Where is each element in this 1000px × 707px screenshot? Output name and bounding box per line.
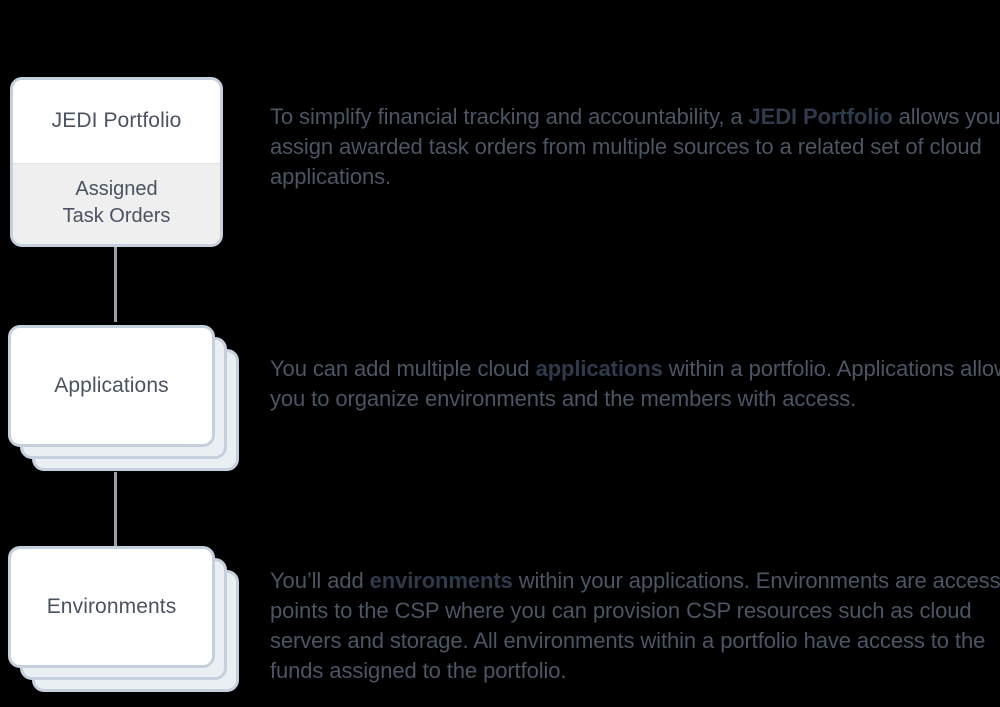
- card-title-applications: Applications: [11, 328, 212, 444]
- card-jedi-portfolio: JEDI Portfolio Assigned Task Orders: [10, 77, 223, 247]
- connector-applications-to-environments: [114, 472, 117, 546]
- description-emphasis: JEDI Portfolio: [749, 104, 893, 129]
- node-environments[interactable]: Environments: [8, 546, 240, 696]
- node-jedi-portfolio[interactable]: JEDI Portfolio Assigned Task Orders: [10, 77, 225, 247]
- description-text-lead: You can add multiple cloud: [270, 356, 536, 381]
- connector-portfolio-to-applications: [114, 246, 117, 322]
- card-title-environments: Environments: [11, 549, 212, 665]
- description-jedi-portfolio: To simplify financial tracking and accou…: [270, 102, 1000, 192]
- card-environments: Environments: [8, 546, 215, 668]
- description-text-lead: You’ll add: [270, 568, 370, 593]
- description-text-lead: To simplify financial tracking and accou…: [270, 104, 749, 129]
- card-title-jedi-portfolio: JEDI Portfolio: [13, 80, 220, 163]
- diagram-canvas: JEDI Portfolio Assigned Task Orders Appl…: [0, 0, 1000, 707]
- description-emphasis: applications: [536, 356, 663, 381]
- card-applications: Applications: [8, 325, 215, 447]
- node-applications[interactable]: Applications: [8, 325, 240, 475]
- card-subsection-assigned-task-orders: Assigned Task Orders: [13, 163, 220, 244]
- description-applications: You can add multiple cloud applications …: [270, 354, 1000, 414]
- description-emphasis: environments: [370, 568, 513, 593]
- description-environments: You’ll add environments within your appl…: [270, 566, 1000, 686]
